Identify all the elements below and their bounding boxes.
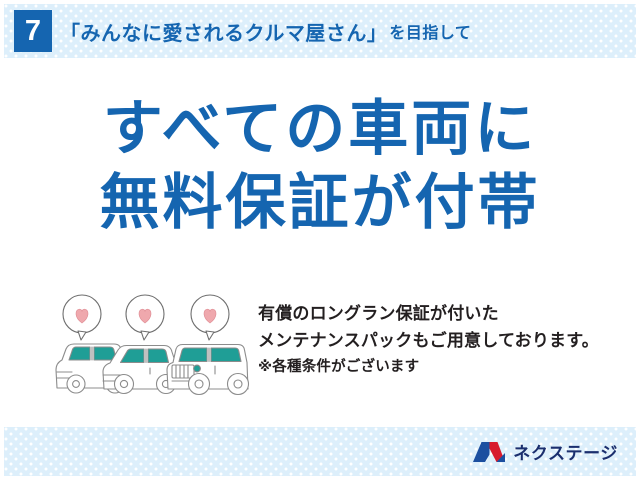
headline-line-1: すべての車両に — [0, 92, 640, 166]
headline-block: すべての車両に 無料保証が付帯 — [0, 92, 640, 240]
headline-line-2: 無料保証が付帯 — [0, 166, 640, 240]
footer-band: ネクステージ — [4, 427, 636, 476]
brand-name: ネクステージ — [513, 439, 618, 464]
section-number-badge: 7 — [14, 10, 52, 52]
brand-logo: ネクステージ — [472, 427, 618, 476]
body-copy-line-1: 有償のロングラン保証が付いた — [258, 300, 638, 327]
header-band: 7 「みんなに愛されるクルマ屋さん」 を目指して — [4, 4, 636, 58]
body-copy-block: 有償のロングラン保証が付いた メンテナンスパックもご用意しております。 ※各種条… — [258, 300, 638, 380]
lower-content: 有償のロングラン保証が付いた メンテナンスパックもご用意しております。 ※各種条… — [0, 292, 640, 402]
body-copy-note: ※各種条件がございます — [258, 354, 638, 380]
header-title-tail: を目指して — [389, 19, 471, 43]
advertisement-banner: 7 「みんなに愛されるクルマ屋さん」 を目指して すべての車両に 無料保証が付帯 — [0, 0, 640, 480]
header-title: 「みんなに愛されるクルマ屋さん」 を目指して — [60, 4, 471, 58]
three-cars-with-heart-bubbles-illustration — [52, 292, 257, 396]
car-right-suv — [167, 345, 249, 395]
body-copy-line-2: メンテナンスパックもご用意しております。 — [258, 327, 638, 354]
nexstage-n-mark-icon — [472, 440, 506, 464]
header-title-quoted: 「みんなに愛されるクルマ屋さん」 — [60, 17, 387, 46]
